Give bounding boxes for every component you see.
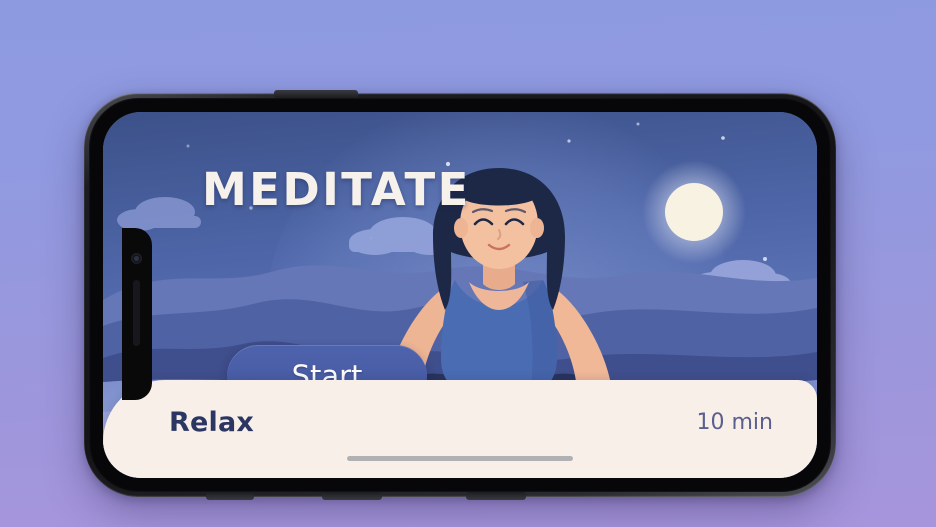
earpiece-speaker-icon — [133, 280, 140, 346]
front-camera-icon — [131, 253, 142, 264]
device-notch — [122, 228, 152, 400]
power-button[interactable] — [274, 90, 358, 98]
phone-device: MEDITATE Start Relax 10 min — [84, 93, 836, 497]
session-name-label: Relax — [169, 407, 254, 438]
home-indicator[interactable] — [347, 456, 573, 461]
session-duration-label: 10 min — [697, 410, 773, 435]
volume-up-button[interactable] — [322, 492, 382, 500]
session-card[interactable]: Relax 10 min — [103, 380, 817, 478]
ringer-switch[interactable] — [206, 492, 254, 500]
phone-screen: MEDITATE Start Relax 10 min — [103, 112, 817, 478]
session-card-row: Relax 10 min — [103, 402, 817, 442]
volume-down-button[interactable] — [466, 492, 526, 500]
page-title: MEDITATE — [202, 163, 471, 216]
moon — [665, 183, 723, 241]
